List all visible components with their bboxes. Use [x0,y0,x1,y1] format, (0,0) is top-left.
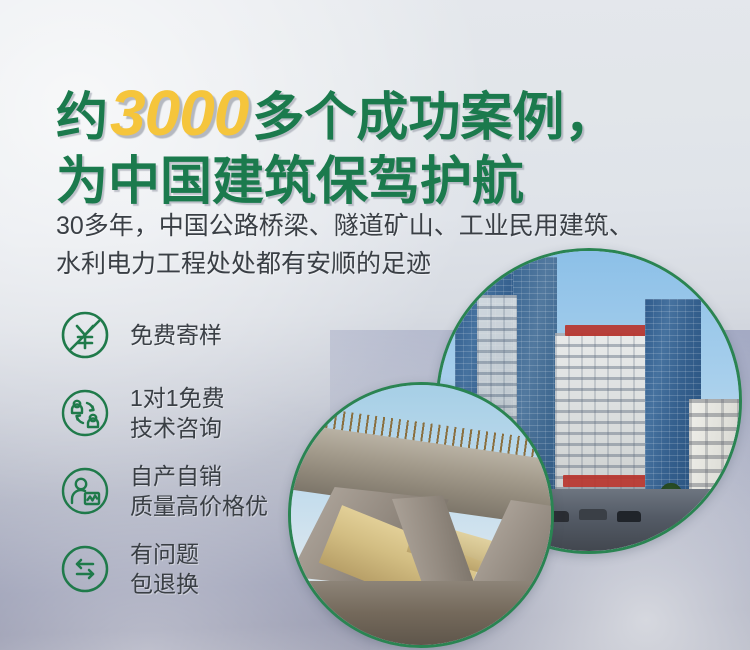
feature-label-line-1: 有问题 [130,539,199,569]
headline-line-2: 为中国建筑保驾护航 [56,154,716,211]
feature-label-line-1: 1对1免费 [130,383,225,413]
feature-label-self-production: 自产自销 质量高价格优 [130,461,268,522]
feature-label-line-2: 质量高价格优 [130,491,268,521]
feature-item-consulting: 1对1免费 技术咨询 [58,374,358,452]
headline-prefix: 约 [56,89,108,147]
feature-item-free-sample: 免费寄样 [58,296,358,374]
feature-label-line-2: 包退换 [130,569,199,599]
promo-banner: 约3000多个成功案例， 为中国建筑保驾护航 30多年，中国公路桥梁、隧道矿山、… [0,0,750,650]
building-car-4 [617,511,641,522]
one-to-one-consult-icon [58,386,112,440]
feature-label-line-1: 免费寄样 [130,320,222,350]
headline-suffix: 多个成功案例， [252,89,616,147]
headline-case-count: 3000 [108,77,252,149]
feature-item-self-production: 自产自销 质量高价格优 [58,452,358,530]
feature-label-consulting: 1对1免费 技术咨询 [130,383,225,444]
feature-item-return-exchange: 有问题 包退换 [58,530,358,608]
headline: 约3000多个成功案例， 为中国建筑保驾护航 [56,78,716,212]
building-roof-sign-top [565,325,649,336]
no-fee-yuan-icon [58,308,112,362]
exchange-return-icon [58,542,112,596]
feature-list: 免费寄样 1对1免费 技术咨询 [58,296,358,608]
feature-label-free-sample: 免费寄样 [130,320,222,350]
headline-line-1: 约3000多个成功案例， [56,78,716,148]
subtitle-line-1: 30多年，中国公路桥梁、隧道矿山、工业民用建筑、 [56,208,726,246]
feature-label-line-2: 技术咨询 [130,413,225,443]
feature-label-return-exchange: 有问题 包退换 [130,539,199,600]
self-production-chart-icon [58,464,112,518]
building-car-3 [579,509,607,520]
feature-label-line-1: 自产自销 [130,461,268,491]
